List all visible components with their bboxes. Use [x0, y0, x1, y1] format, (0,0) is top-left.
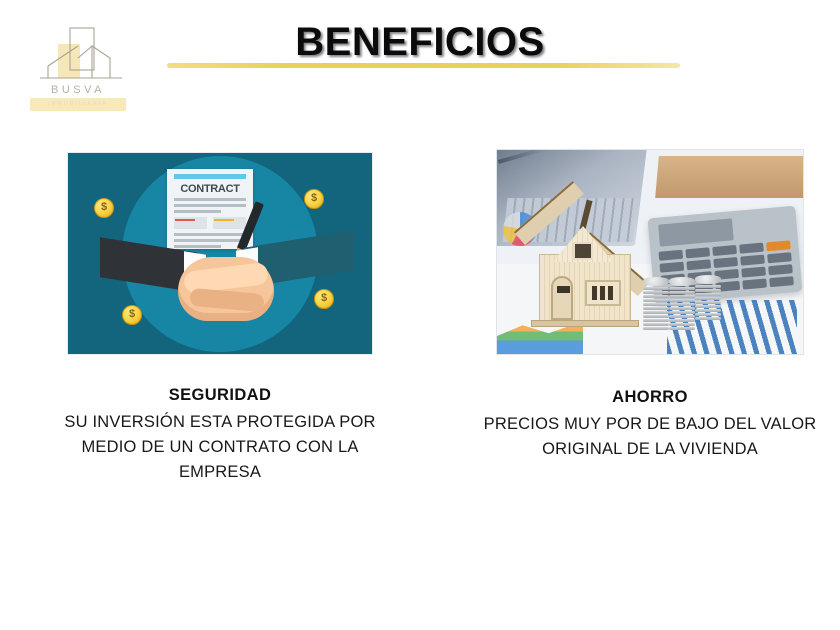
ahorro-body: PRECIOS MUY POR DE BAJO DEL VALOR ORIGIN… — [470, 412, 830, 462]
coin-stack — [643, 277, 669, 330]
house-window — [585, 280, 621, 306]
coin-stack — [695, 275, 721, 320]
ahorro-image — [496, 149, 804, 355]
document-text-line — [174, 198, 246, 201]
wood-board — [655, 156, 803, 198]
document-field — [174, 217, 207, 229]
contract-label: CONTRACT — [167, 183, 253, 195]
house-coins-calculator-photo — [497, 150, 803, 354]
brand-tagline: INMOBILIARIA — [30, 98, 126, 111]
handshake-contract-illustration: CONTRACT $ $ $ $ — [68, 153, 372, 354]
dollar-coin-icon: $ — [314, 289, 334, 309]
document-text-line — [174, 233, 246, 236]
house-chimney — [579, 200, 592, 231]
ahorro-title: AHORRO — [470, 386, 830, 410]
page-title: BENEFICIOS — [0, 20, 840, 65]
dollar-coin-icon: $ — [94, 198, 114, 218]
document-text-line — [174, 210, 221, 213]
calculator-screen — [658, 218, 734, 246]
document-text-line — [174, 245, 221, 248]
document-text-line — [174, 204, 246, 207]
document-field — [213, 217, 246, 229]
dollar-coin-icon: $ — [122, 305, 142, 325]
document-header-bar — [174, 174, 246, 179]
house-attic-window — [573, 242, 593, 260]
house-door — [551, 276, 573, 320]
document-fields — [174, 217, 246, 229]
document-text-line — [174, 239, 246, 242]
wooden-house-model — [523, 202, 643, 324]
dollar-coin-icon: $ — [304, 189, 324, 209]
benefit-card-ahorro: AHORRO PRECIOS MUY POR DE BAJO DEL VALOR… — [470, 149, 830, 462]
benefit-card-seguridad: CONTRACT $ $ $ $ — [40, 152, 400, 485]
handshake-hands — [178, 257, 274, 321]
seguridad-image: CONTRACT $ $ $ $ — [67, 152, 373, 355]
house-base — [531, 320, 639, 327]
brand-name: BUSVA — [18, 84, 138, 96]
seguridad-body: SU INVERSIÓN ESTA PROTEGIDA POR MEDIO DE… — [40, 410, 400, 485]
title-underline-rule — [167, 63, 680, 68]
ahorro-caption: AHORRO PRECIOS MUY POR DE BAJO DEL VALOR… — [470, 386, 830, 462]
coin-stack — [669, 277, 695, 330]
seguridad-caption: SEGURIDAD SU INVERSIÓN ESTA PROTEGIDA PO… — [40, 384, 400, 485]
seguridad-title: SEGURIDAD — [40, 384, 400, 408]
